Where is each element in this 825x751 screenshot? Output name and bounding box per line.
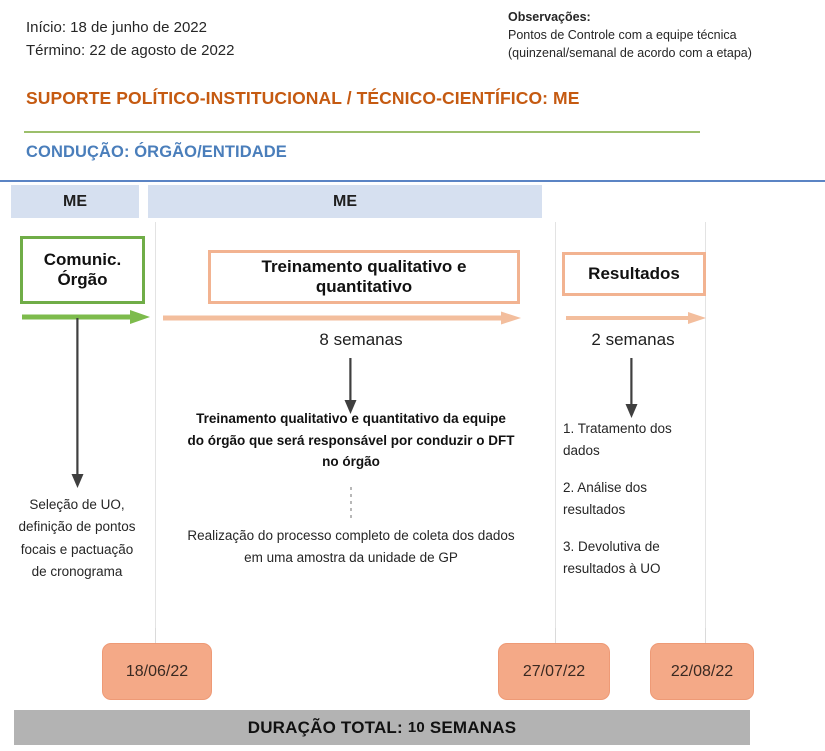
column-divider-1: [155, 222, 156, 642]
green-divider-rule: [24, 131, 700, 133]
phase-box-comunicacao-line-2: Órgão: [44, 270, 121, 290]
dotted-connector: [350, 487, 352, 521]
phase-2-description-primary: Treinamento qualitativo e quantitativo d…: [186, 408, 516, 473]
phase-box-resultados: Resultados: [562, 252, 706, 296]
list-item: 2. Análise dos resultados: [563, 477, 703, 520]
total-duration-unit: SEMANAS: [430, 718, 516, 738]
observations-line-1: Pontos de Controle com a equipe técnica: [508, 26, 818, 44]
end-date-label: Término: 22 de agosto de 2022: [26, 39, 466, 62]
total-duration-bar: DURAÇÃO TOTAL: 10 SEMANAS: [14, 710, 750, 745]
observations-line-2: (quinzenal/semanal de acordo com a etapa…: [508, 44, 818, 62]
down-arrow-icon-phase-3: [625, 358, 638, 418]
list-item: 1. Tratamento dos dados: [563, 418, 703, 461]
column-divider-2: [555, 222, 556, 642]
milestone-date-badge-2: 27/07/22: [498, 643, 610, 700]
phase-box-comunicacao-line-1: Comunic.: [44, 250, 121, 270]
phase-3-duration-label: 2 semanas: [560, 330, 706, 350]
phase-box-treinamento: Treinamento qualitativo e quantitativo: [208, 250, 520, 304]
total-duration-label: DURAÇÃO TOTAL:: [248, 718, 403, 738]
phase-3-result-list: 1. Tratamento dos dados 2. Análise dos r…: [563, 418, 703, 580]
orange-progress-arrow-icon-1: [163, 311, 521, 325]
green-progress-arrow-icon: [22, 310, 150, 324]
phase-2-duration-label: 8 semanas: [208, 330, 514, 350]
blue-divider-rule: [0, 180, 825, 182]
owner-bar-phase-1: ME: [11, 185, 139, 218]
total-duration-value: 10: [408, 719, 425, 736]
owner-bar-phase-2: ME: [148, 185, 542, 218]
observations-title: Observações:: [508, 8, 818, 26]
phase-box-comunicacao: Comunic. Órgão: [20, 236, 145, 304]
phase-2-description-secondary: Realização do processo completo de colet…: [186, 525, 516, 568]
down-arrow-icon-phase-1: [71, 318, 84, 488]
observations-block: Observações: Pontos de Controle com a eq…: [508, 8, 818, 62]
orange-progress-arrow-icon-2: [566, 311, 706, 325]
phase-box-treinamento-line-1: Treinamento qualitativo e: [262, 257, 467, 277]
conduction-section-title: CONDUÇÃO: ÓRGÃO/ENTIDADE: [26, 143, 287, 162]
down-arrow-icon-phase-2: [344, 358, 357, 414]
phase-box-treinamento-line-2: quantitativo: [262, 277, 467, 297]
list-item: 3. Devolutiva de resultados à UO: [563, 536, 703, 579]
milestone-date-badge-3: 22/08/22: [650, 643, 754, 700]
start-date-label: Início: 18 de junho de 2022: [26, 16, 466, 39]
milestone-date-badge-1: 18/06/22: [102, 643, 212, 700]
project-dates: Início: 18 de junho de 2022 Término: 22 …: [26, 16, 466, 63]
phase-1-description: Seleção de UO, definição de pontos focai…: [12, 494, 142, 583]
support-section-title: SUPORTE POLÍTICO-INSTITUCIONAL / TÉCNICO…: [26, 88, 580, 109]
